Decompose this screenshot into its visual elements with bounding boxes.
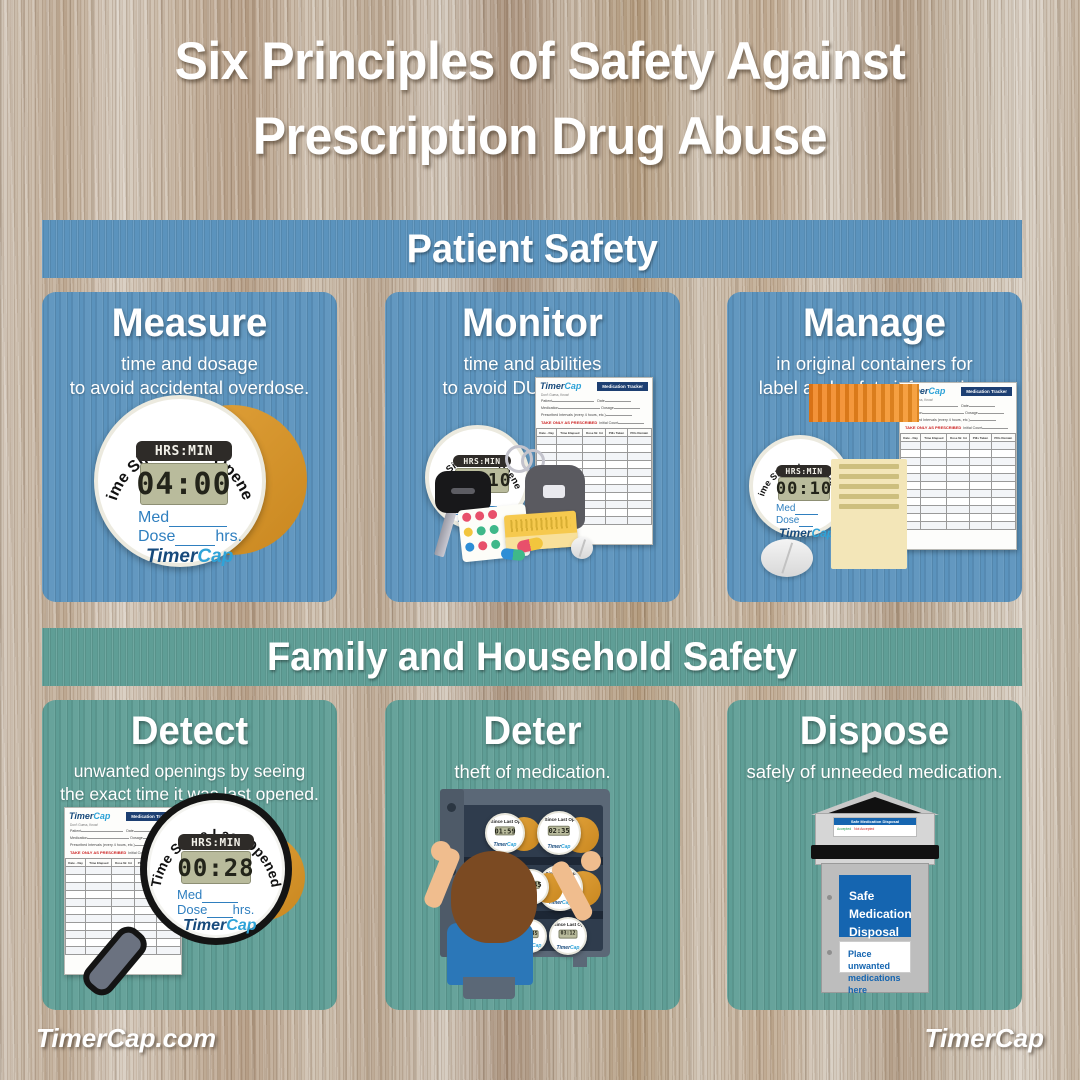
table-row xyxy=(901,458,1016,466)
card-detect[interactable]: Detect unwanted openings by seeing the e… xyxy=(42,700,337,1010)
timercap-lcd-display: 04:00 xyxy=(140,463,228,505)
minicap-arc-label: Time Since Last Opened xyxy=(549,922,587,927)
table-row xyxy=(901,522,1016,530)
timercap-disc: Time Since Last Opened HRS:MIN 04:00 Med… xyxy=(94,395,266,567)
table-row xyxy=(901,498,1016,506)
minicap-lcd: 01:59 xyxy=(495,826,515,835)
timercap-dose-line: Dose hrs. xyxy=(177,902,254,917)
table-row xyxy=(537,453,652,461)
kiosk-top-sign-title: Safe Medication Disposal xyxy=(834,818,916,825)
card-measure[interactable]: Measure time and dosage to avoid acciden… xyxy=(42,292,337,602)
kiosk-accept-label: Accepted xyxy=(837,827,851,831)
pill-dot xyxy=(489,525,499,535)
kiosk-screw xyxy=(827,950,832,955)
page-title: Six Principles of Safety Against Prescri… xyxy=(0,24,1080,175)
tracker-field-patient: Patient Date xyxy=(536,398,652,405)
white-pill-icon xyxy=(571,537,593,559)
timercap-med-line: Med xyxy=(177,887,238,902)
white-pill-icon xyxy=(761,539,813,577)
tracker-grid-header: Date - Day Time Elapsed Dose Nr. Int Pil… xyxy=(537,429,652,437)
tracker-col: Date - Day xyxy=(537,429,557,437)
timercap-units-badge: HRS:MIN xyxy=(453,455,511,467)
card-manage-artwork: TimerCap Medication Tracker Don't Guess,… xyxy=(727,387,1022,602)
tracker-col: Time Elapsed xyxy=(557,429,583,437)
card-detect-title: Detect xyxy=(48,710,331,753)
card-deter-title: Deter xyxy=(391,710,674,753)
kiosk-blue-line-1: Safe xyxy=(849,887,901,905)
timercap-med-line: Med xyxy=(138,509,227,527)
tracker-brand: TimerCap xyxy=(69,811,110,821)
safe-timercap: Time Since Last Opened 03:12 TimerCap xyxy=(549,917,587,955)
tracker-col: Time Elapsed xyxy=(921,434,947,442)
table-row xyxy=(901,474,1016,482)
minicap-lcd: 02:35 xyxy=(548,825,570,835)
tracker-warning-row: TAKE ONLY AS PRESCRIBED Initial Count xyxy=(536,419,652,427)
tracker-brand: TimerCap xyxy=(540,381,581,391)
minicap-logo: TimerCap xyxy=(548,844,571,850)
kiosk-top-sign: Safe Medication Disposal Accepted Not Ac… xyxy=(833,817,917,837)
card-manage[interactable]: Manage in original containers for label … xyxy=(727,292,1022,602)
key-fob-icon xyxy=(435,471,491,513)
safe-timercap: Time Since Last Opened 01:59 TimerCap xyxy=(485,813,525,853)
table-row xyxy=(901,442,1016,450)
table-row xyxy=(537,445,652,453)
tracker-col: Pills Taken xyxy=(970,434,991,442)
table-row xyxy=(901,450,1016,458)
card-manage-title: Manage xyxy=(733,302,1016,345)
card-dispose-subtitle: safely of unneeded medication. xyxy=(727,760,1022,784)
timercap-lcd-display: 00:28 xyxy=(181,851,251,884)
tracker-grid: Date - Day Time Elapsed Dose Nr. Int Pil… xyxy=(900,433,1016,530)
pill-dot xyxy=(475,511,485,521)
title-line-2: Prescription Drug Abuse xyxy=(32,99,1047,174)
tracker-field-medication: Medication Dosage xyxy=(536,405,652,412)
person-head xyxy=(451,851,537,943)
title-line-1: Six Principles of Safety Against xyxy=(32,24,1047,99)
label-line xyxy=(839,464,899,469)
table-row xyxy=(901,466,1016,474)
person-pants xyxy=(463,977,515,999)
table-row xyxy=(537,437,652,445)
tracker-header: TimerCap Medication Tracker xyxy=(536,378,652,392)
tracker-col: Date - Day xyxy=(66,859,86,867)
safe-foot xyxy=(573,957,587,967)
tracker-grid-header: Date - Day Time Elapsed Dose Nr. Int Pil… xyxy=(901,434,1016,442)
kiosk-screw xyxy=(827,895,832,900)
tracker-badge: Medication Tracker xyxy=(597,382,648,391)
tracker-warning-row: TAKE ONLY AS PRESCRIBED Initial Count xyxy=(900,424,1016,432)
barcode xyxy=(510,516,571,532)
card-monitor[interactable]: Monitor time and abilities to avoid DUI … xyxy=(385,292,680,602)
safe-hinge xyxy=(447,803,456,812)
minicap-arc-label: Time Since Last Opened xyxy=(485,819,525,824)
kiosk-blue-line-2: Medication xyxy=(849,905,901,923)
footer-brand: TimerCap xyxy=(925,1023,1044,1054)
tracker-field-prescribed: Prescribed Intervals (every 4 hours, etc… xyxy=(536,412,652,419)
footer-website[interactable]: TimerCap.com xyxy=(36,1023,216,1054)
pill-dot xyxy=(463,527,473,537)
label-line xyxy=(839,474,899,479)
person-hand-right xyxy=(581,851,601,871)
pill-dot xyxy=(478,541,488,551)
table-row xyxy=(901,482,1016,490)
table-row xyxy=(901,490,1016,498)
pill-dot xyxy=(476,526,486,536)
timercap-brand-logo: TimerCap xyxy=(183,917,257,935)
card-deter-subtitle: theft of medication. xyxy=(385,760,680,784)
card-detect-artwork: TimerCap Medication Tracker Don't Guess,… xyxy=(42,795,337,1010)
timercap-dose-line: Dose hrs. xyxy=(138,528,242,546)
card-monitor-title: Monitor xyxy=(391,302,674,345)
pill-dot xyxy=(488,510,498,520)
card-dispose-title: Dispose xyxy=(733,710,1016,753)
minicap-logo: TimerCap xyxy=(494,842,517,848)
section-header-patient-safety-label: Patient Safety xyxy=(406,227,657,272)
tracker-col: Pills Remain xyxy=(991,434,1015,442)
pill-dot xyxy=(491,539,501,549)
timercap-dose-line: Dose xyxy=(776,515,813,526)
minicap-lcd: 03:12 xyxy=(558,930,577,939)
kiosk-blue-line-3: Disposal xyxy=(849,923,901,941)
pill-bottle-label xyxy=(831,459,907,569)
pill-bottle-cap xyxy=(809,384,919,422)
kiosk-white-line-1: Place unwanted xyxy=(848,948,902,972)
card-deter-artwork: Time Since Last Opened 01:59 TimerCap Ti… xyxy=(385,795,680,1010)
tracker-col: Dose Nr. Int xyxy=(947,434,970,442)
card-measure-artwork: Time Since Last Opened HRS:MIN 04:00 Med… xyxy=(42,387,337,602)
kiosk-blue-sign: Safe Medication Disposal xyxy=(839,875,911,937)
tracker-col: Dose Nr. Int xyxy=(583,429,606,437)
label-line xyxy=(839,484,899,489)
card-monitor-artwork: TimerCap Medication Tracker Don't Guess,… xyxy=(385,387,680,602)
tracker-badge: Medication Tracker xyxy=(961,387,1012,396)
tracker-col: Pills Remain xyxy=(627,429,651,437)
timercap-brand-logo: TimerCap xyxy=(146,546,233,568)
tracker-col: Pills Taken xyxy=(606,429,627,437)
card-deter[interactable]: Deter theft of medication. Time Since La… xyxy=(385,700,680,1010)
table-row xyxy=(901,506,1016,514)
magnifier-icon: Time Since Last Opened HRS:MIN 00:28 Med… xyxy=(140,793,292,945)
tracker-col: Dose Nr. Int xyxy=(112,859,135,867)
tracker-col: Time Elapsed xyxy=(86,859,112,867)
section-header-family-safety: Family and Household Safety xyxy=(42,628,1022,686)
safe-timercap: Time Since Last Opened 02:35 TimerCap xyxy=(537,811,581,855)
person-hand-left xyxy=(431,841,451,861)
card-dispose[interactable]: Dispose safely of unneeded medication. S… xyxy=(727,700,1022,1010)
table-row xyxy=(901,514,1016,522)
label-line xyxy=(839,504,899,509)
label-line xyxy=(839,494,899,499)
card-dispose-artwork: Safe Medication Disposal Accepted Not Ac… xyxy=(727,795,1022,1010)
timercap-units-badge: HRS:MIN xyxy=(136,441,232,461)
caplet-icon xyxy=(500,548,525,561)
pill-dot xyxy=(462,512,472,522)
kiosk-reject-label: Not Accepted xyxy=(854,827,874,831)
minicap-arc-label: Time Since Last Opened xyxy=(537,817,581,822)
minicap-logo: TimerCap xyxy=(557,945,580,951)
kiosk-white-sign: Place unwanted medications here xyxy=(839,941,911,973)
card-measure-title: Measure xyxy=(48,302,331,345)
timercap-med-line: Med xyxy=(776,503,818,514)
section-header-family-safety-label: Family and Household Safety xyxy=(267,635,797,680)
section-header-patient-safety: Patient Safety xyxy=(42,220,1022,278)
kiosk-top-sign-body: Accepted Not Accepted xyxy=(834,825,916,833)
pill-dot xyxy=(465,542,475,552)
timercap-units-badge: HRS:MIN xyxy=(178,834,254,850)
kiosk-deposit-slot[interactable] xyxy=(811,845,939,859)
kiosk-white-line-2: medications here xyxy=(848,972,902,996)
